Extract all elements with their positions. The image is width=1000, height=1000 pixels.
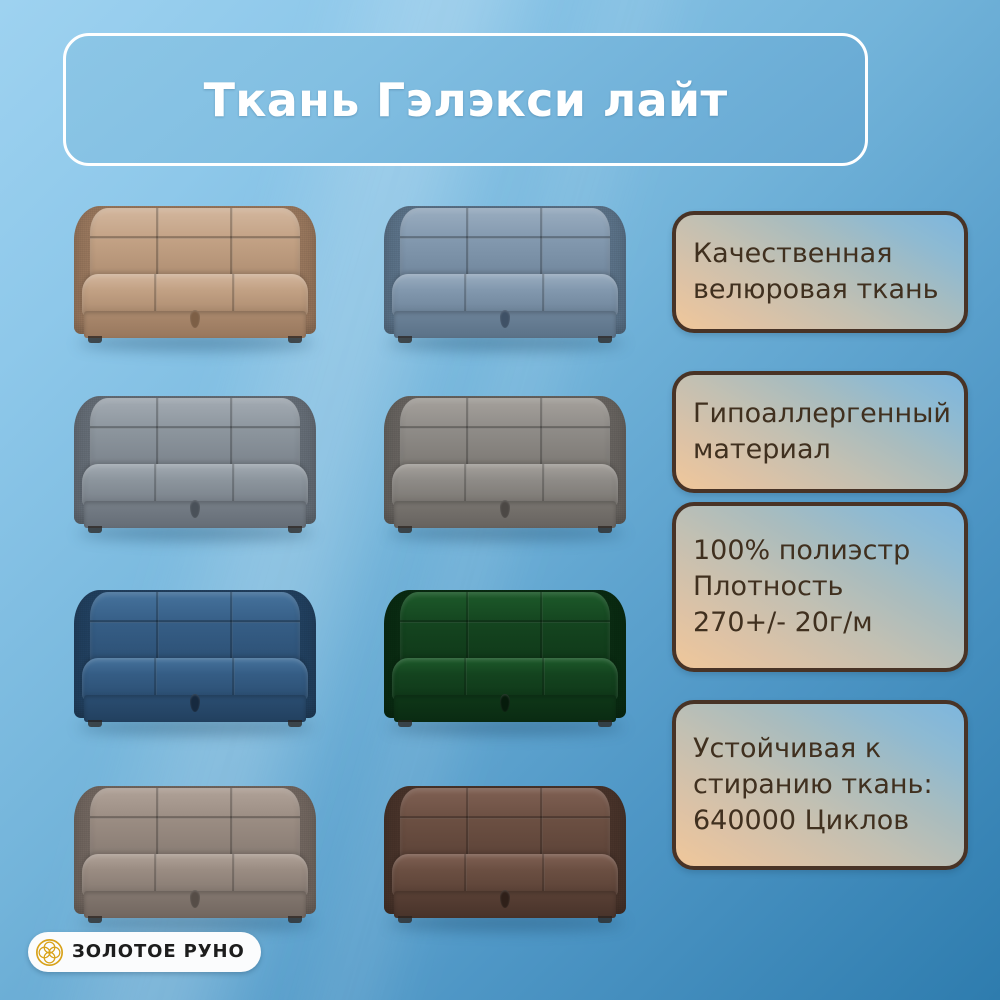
feature-line: 270+/- 20г/м: [693, 605, 947, 641]
sofa-image: [70, 778, 320, 933]
seat-seam-vertical-right: [232, 658, 235, 700]
sofa-foot-left: [398, 526, 412, 533]
sofa-swatch-mushroom[interactable]: [70, 778, 320, 933]
page-title: Ткань Гэлэкси лайт: [204, 77, 728, 123]
seat-seam-vertical-right: [232, 274, 235, 316]
seat-seam-vertical-left: [464, 464, 467, 506]
seat-seam-vertical-right: [542, 274, 545, 316]
golden-fleece-rosette-icon: [36, 939, 63, 966]
sofa-swatch-warm-grey[interactable]: [380, 388, 630, 543]
backrest-seam-horizontal: [90, 236, 300, 239]
sofa-foot-right: [598, 336, 612, 343]
sofa-foot-left: [88, 336, 102, 343]
sofa-swatch-denim[interactable]: [70, 582, 320, 737]
feature-line: Гипоаллергенный: [693, 396, 947, 432]
feature-card-composition-density: 100% полиэстрПлотность270+/- 20г/м: [672, 502, 968, 672]
sofa-swatch-grey-blue[interactable]: [70, 388, 320, 543]
sofa-foot-right: [288, 336, 302, 343]
feature-card-abrasion-resistance: Устойчивая кстиранию ткань:640000 Циклов: [672, 700, 968, 870]
sofa-swatch-grid: [55, 190, 645, 930]
seat-seam-vertical-right: [542, 854, 545, 896]
sofa-foot-left: [398, 720, 412, 727]
backrest-seam-horizontal: [400, 816, 610, 819]
sofa-image: [380, 388, 630, 543]
seat-seam-vertical-right: [542, 658, 545, 700]
seat-seam-vertical-left: [154, 658, 157, 700]
feature-line: Качественная: [693, 236, 947, 272]
feature-line: 640000 Циклов: [693, 803, 947, 839]
feature-line: 100% полиэстр: [693, 533, 947, 569]
sofa-foot-right: [598, 720, 612, 727]
sofa-image: [380, 198, 630, 353]
feature-card-hypoallergenic: Гипоаллергенныйматериал: [672, 371, 968, 493]
backrest-seam-horizontal: [400, 236, 610, 239]
sofa-swatch-forest[interactable]: [380, 582, 630, 737]
sofa-image: [70, 582, 320, 737]
sofa-foot-left: [88, 720, 102, 727]
feature-line: стиранию ткань:: [693, 767, 947, 803]
seat-seam-vertical-left: [464, 274, 467, 316]
seat-seam-vertical-left: [464, 658, 467, 700]
sofa-foot-right: [288, 916, 302, 923]
sofa-image: [380, 778, 630, 933]
seat-seam-vertical-left: [154, 274, 157, 316]
title-banner: Ткань Гэлэкси лайт: [63, 33, 868, 166]
brand-logo[interactable]: ЗОЛОТОЕ РУНО: [28, 932, 261, 972]
sofa-foot-right: [288, 720, 302, 727]
backrest-seam-horizontal: [90, 426, 300, 429]
sofa-swatch-tan[interactable]: [70, 198, 320, 353]
sofa-foot-right: [288, 526, 302, 533]
sofa-foot-right: [598, 916, 612, 923]
sofa-swatch-chocolate[interactable]: [380, 778, 630, 933]
sofa-image: [70, 198, 320, 353]
sofa-foot-left: [398, 336, 412, 343]
seat-seam-vertical-right: [232, 854, 235, 896]
sofa-foot-left: [88, 526, 102, 533]
feature-line: Плотность: [693, 569, 947, 605]
sofa-foot-left: [398, 916, 412, 923]
seat-seam-vertical-right: [542, 464, 545, 506]
feature-line: материал: [693, 432, 947, 468]
backrest-seam-horizontal: [90, 816, 300, 819]
sofa-foot-left: [88, 916, 102, 923]
feature-card-quality-velour: Качественнаявелюровая ткань: [672, 211, 968, 333]
feature-line: велюровая ткань: [693, 272, 947, 308]
sofa-swatch-steel-blue[interactable]: [380, 198, 630, 353]
seat-seam-vertical-left: [464, 854, 467, 896]
seat-seam-vertical-right: [232, 464, 235, 506]
promo-poster: Ткань Гэлэкси лайт Качественнаявелюровая…: [0, 0, 1000, 1000]
feature-line: Устойчивая к: [693, 731, 947, 767]
sofa-foot-right: [598, 526, 612, 533]
sofa-image: [380, 582, 630, 737]
backrest-seam-horizontal: [400, 620, 610, 623]
seat-seam-vertical-left: [154, 854, 157, 896]
backrest-seam-horizontal: [400, 426, 610, 429]
brand-name: ЗОЛОТОЕ РУНО: [72, 943, 245, 961]
seat-seam-vertical-left: [154, 464, 157, 506]
backrest-seam-horizontal: [90, 620, 300, 623]
sofa-image: [70, 388, 320, 543]
